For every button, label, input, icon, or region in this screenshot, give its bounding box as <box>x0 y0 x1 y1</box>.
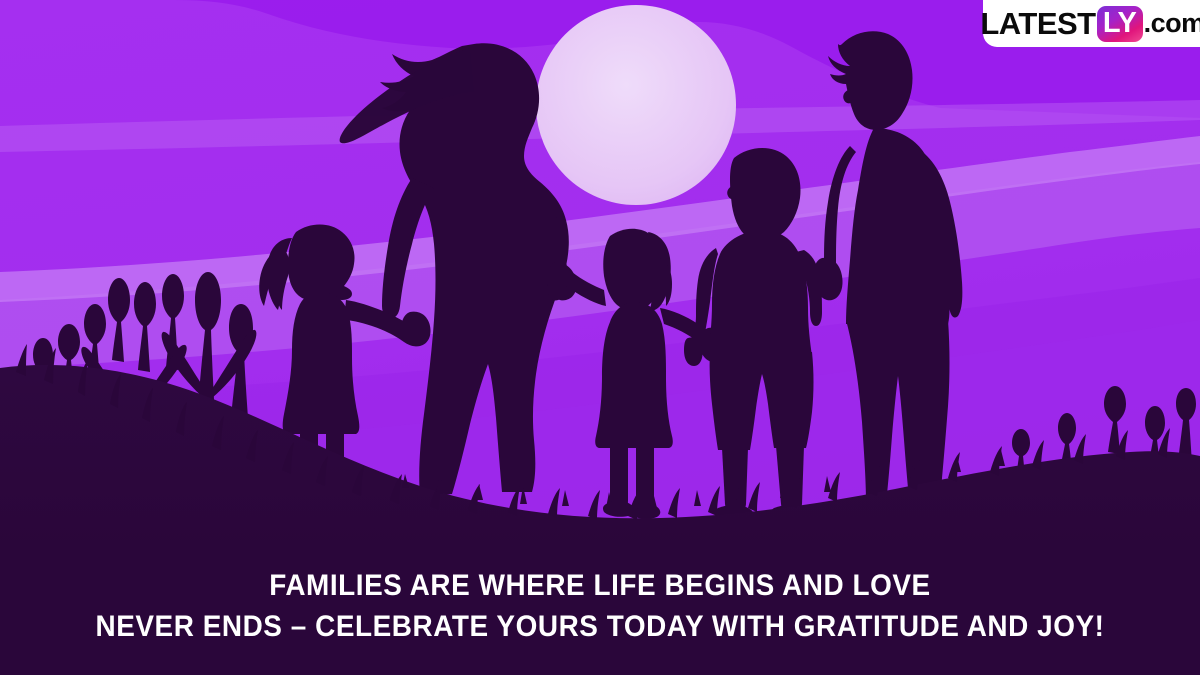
logo-badge-ly: LY <box>1097 6 1143 42</box>
logo-wordmark: LATESTLY.com <box>980 6 1200 42</box>
logo-text-latest: LATEST <box>980 8 1095 39</box>
logo-text-dotcom: .com <box>1144 10 1200 37</box>
scene-illustration <box>0 0 1200 675</box>
caption-band <box>0 540 1200 675</box>
moon <box>536 5 736 205</box>
latestly-logo[interactable]: LATESTLY.com <box>983 0 1200 47</box>
poster-canvas: LATESTLY.com FAMILIES ARE WHERE LIFE BEG… <box>0 0 1200 675</box>
